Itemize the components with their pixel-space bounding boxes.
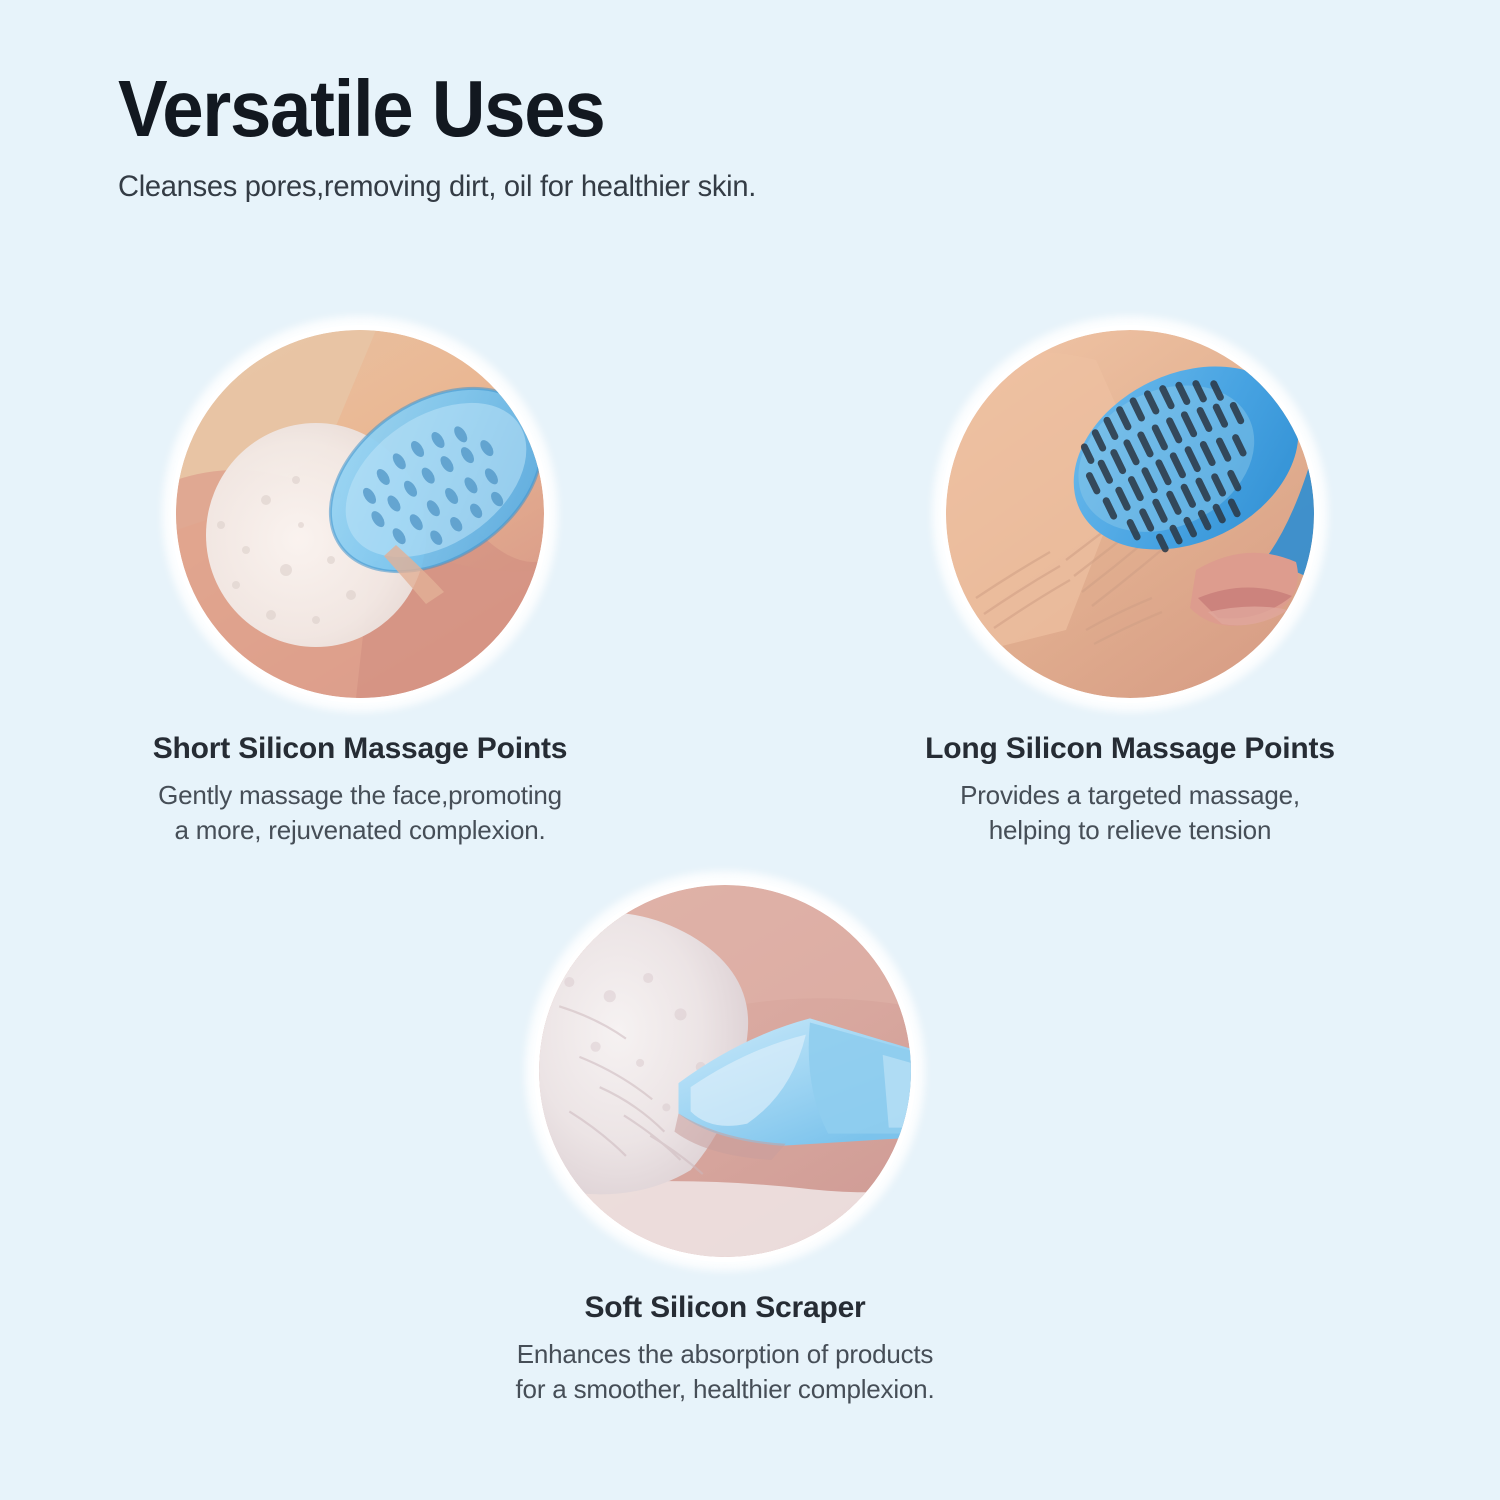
circular-photo-3 [539,885,911,1257]
feature-description-short-silicon-massage-points: Gently massage the face,promoting a more… [60,766,660,847]
feature-image-soft-silicon-scraper [539,885,911,1257]
feature-card-short-silicon-massage-points: Short Silicon Massage Points Gently mass… [60,330,660,847]
circular-photo-2 [946,330,1314,698]
feature-image-short-silicon-massage-points [176,330,544,698]
feature-desc-line: Gently massage the face,promoting [60,778,660,813]
feature-desc-line: Provides a targeted massage, [840,778,1420,813]
feature-card-soft-silicon-scraper: Soft Silicon Scraper Enhances the absorp… [430,885,1020,1406]
page-title: Versatile Uses [118,70,1299,148]
feature-image-long-silicon-massage-points [946,330,1314,698]
feature-description-soft-silicon-scraper: Enhances the absorption of products for … [430,1325,1020,1406]
feature-desc-line: helping to relieve tension [840,813,1420,848]
feature-desc-line: a more, rejuvenated complexion. [60,813,660,848]
feature-desc-line: for a smoother, healthier complexion. [430,1372,1020,1407]
page-subtitle: Cleanses pores,removing dirt, oil for he… [118,148,1350,204]
circular-photo-1 [176,330,544,698]
feature-description-long-silicon-massage-points: Provides a targeted massage, helping to … [840,766,1420,847]
feature-card-long-silicon-massage-points: Long Silicon Massage Points Provides a t… [840,330,1420,847]
feature-desc-line: Enhances the absorption of products [430,1337,1020,1372]
header: Versatile Uses Cleanses pores,removing d… [118,70,1388,204]
